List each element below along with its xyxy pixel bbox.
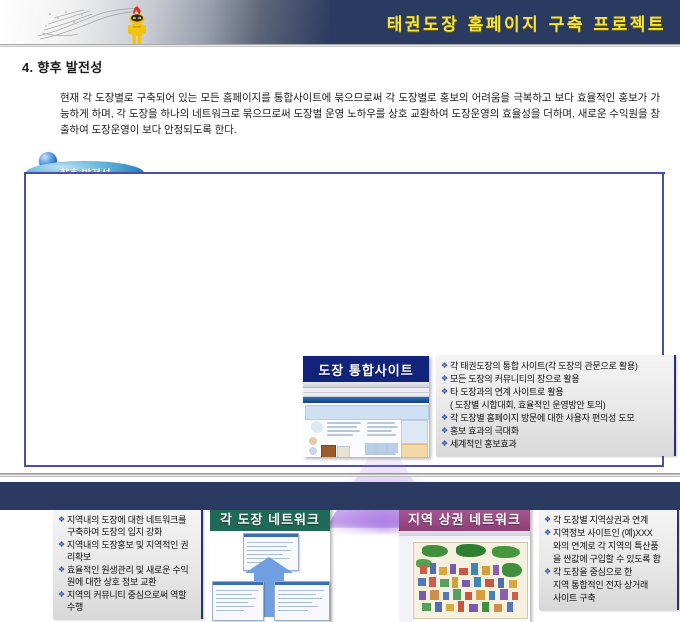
site-thumbnail (212, 581, 264, 621)
site-avatar (311, 421, 323, 433)
list-item-label: ( 도장별 시합대회, 효율적인 운영방안 토의) (450, 399, 668, 411)
diamond-bullet-icon: ❖ (441, 412, 450, 424)
list-item-label: 지역 통합적인 전자 상거래 (553, 579, 671, 591)
section-heading: 4. 향후 발전성 (22, 57, 103, 76)
list-item-label: 모든 도장의 커뮤니티의 장으로 활용 (450, 373, 668, 385)
diamond-bullet-icon: ❖ (441, 373, 450, 385)
site-thumb (337, 446, 350, 457)
page-footer (0, 482, 680, 510)
diamond-bullet-icon: ❖ (441, 425, 450, 437)
list-item: ❖각 도장별 홈페이지 방문에 대한 사용자 편의성 도모 (441, 412, 668, 424)
diamond-bullet-icon: ❖ (544, 566, 553, 578)
dojang-network-card[interactable]: 각 도장 네트워크 (210, 505, 330, 622)
list-item: ❖각 태권도장의 통합 사이트(각 도장의 관문으로 활용) (441, 360, 668, 372)
diamond-bullet-icon: ❖ (58, 539, 67, 551)
list-item-label: 타 도장과의 연계 사이트로 활용 (450, 386, 668, 398)
site-promo-box (401, 444, 428, 457)
browser-toolbar (399, 536, 530, 540)
site-thumb (321, 445, 336, 457)
site-text-line (367, 430, 392, 432)
diamond-bullet-icon: ❖ (441, 386, 450, 398)
site-text-line (327, 434, 353, 436)
site-text-line (327, 422, 361, 424)
map-sidebar (399, 540, 412, 622)
list-item: ❖효율적인 원생관리 및 새로운 수익원에 대한 상호 정보 교환 (58, 564, 195, 588)
site-text-line (327, 426, 357, 428)
site-thumb (309, 447, 317, 455)
list-item-label: 지역내의 도장에 대한 네트워크를 구축하여 도장의 입지 강화 (67, 514, 195, 538)
diamond-bullet-icon: ❖ (58, 564, 67, 576)
page-title: 태권도장 홈페이지 구축 프로젝트 (387, 10, 666, 35)
list-item-label: 지역내의 도장홍보 및 지역적인 권리확보 (67, 539, 195, 563)
list-item: ❖모든 도장의 커뮤니티의 장으로 활용 (441, 373, 668, 385)
page-header: 태권도장 홈페이지 구축 프로젝트 (0, 0, 680, 44)
list-item: ❖지역 통합적인 전자 상거래 (544, 579, 671, 591)
site-text-line (367, 422, 395, 424)
site-text-line (327, 430, 360, 432)
integrated-site-screenshot (303, 382, 429, 457)
site-content (303, 403, 429, 457)
site-thumbnail (274, 581, 330, 621)
diamond-bullet-icon: ❖ (441, 438, 450, 450)
diamond-bullet-icon: ❖ (544, 514, 553, 526)
site-sidebox (401, 420, 428, 444)
list-item-label: 각 도장별 홈페이지 방문에 대한 사용자 편의성 도모 (450, 412, 668, 424)
list-item: ❖각 도장을 중심으로 한 (544, 566, 671, 578)
header-divider (0, 44, 680, 47)
site-text-line (367, 426, 398, 428)
list-item-label: 각 도장을 중심으로 한 (553, 566, 671, 578)
list-item: ❖세계적인 홍보효과 (441, 438, 668, 450)
diamond-bullet-icon: ❖ (58, 589, 67, 601)
diamond-bullet-icon: ❖ (58, 514, 67, 526)
footer-divider (0, 473, 680, 477)
list-item-label: 사이트 구축 (553, 592, 671, 604)
site-text-line (367, 434, 396, 436)
list-item: ❖( 도장별 시합대회, 효율적인 운영방안 토의) (441, 399, 668, 411)
thumbnail-titlebar (213, 582, 263, 585)
list-item-label: 각 태권도장의 통합 사이트(각 도장의 관문으로 활용) (450, 360, 668, 372)
list-item: ❖을 싼값에 구입할 수 있도록 함 (544, 553, 671, 565)
illustrated-map (413, 542, 528, 619)
list-item: ❖지역정보 사이트인 (예)XXX (544, 527, 671, 539)
site-thumb (387, 443, 398, 453)
list-item: ❖홍보 효과의 극대화 (441, 425, 668, 437)
integrated-site-bullet-list: ❖각 태권도장의 통합 사이트(각 도장의 관문으로 활용) ❖모든 도장의 커… (436, 355, 676, 456)
market-network-bullet-list: ❖각 도장별 지역상권과 연계 ❖지역정보 사이트인 (예)XXX ❖와의 연계… (539, 509, 679, 610)
thumbnail-titlebar (275, 582, 329, 585)
site-thumb (365, 443, 376, 453)
list-item: ❖와의 연계로 각 지역의 특산품 (544, 540, 671, 552)
list-item: ❖사이트 구축 (544, 592, 671, 604)
thumbnail-titlebar (244, 534, 298, 537)
site-thumb (376, 443, 387, 453)
diamond-bullet-icon: ❖ (441, 360, 450, 372)
list-item: ❖타 도장과의 연계 사이트로 활용 (441, 386, 668, 398)
list-item-label: 지역정보 사이트인 (예)XXX (553, 527, 671, 539)
diamond-bullet-icon: ❖ (544, 527, 553, 539)
list-item-label: 지역의 커뮤니티 중심으로써 역할 수행 (67, 589, 195, 613)
list-item-label: 각 도장별 지역상권과 연계 (553, 514, 671, 526)
market-map-screenshot (399, 531, 530, 622)
list-item-label: 세계적인 홍보효과 (450, 438, 668, 450)
diagram-container: 도장 통합사이트 (24, 172, 664, 467)
site-text-line (365, 453, 396, 455)
list-item: ❖지역내의 도장에 대한 네트워크를 구축하여 도장의 입지 강화 (58, 514, 195, 538)
dojang-network-bullet-list: ❖지역내의 도장에 대한 네트워크를 구축하여 도장의 입지 강화 ❖지역내의 … (53, 509, 203, 619)
site-thumb (309, 437, 317, 445)
mascot-character-icon (122, 5, 152, 44)
list-item-label: 을 싼값에 구입할 수 있도록 함 (553, 553, 671, 565)
list-item: ❖각 도장별 지역상권과 연계 (544, 514, 671, 526)
taekwondo-mascot-logo (36, 2, 172, 44)
site-banner (305, 405, 429, 420)
list-item-label: 효율적인 원생관리 및 새로운 수익원에 대한 상호 정보 교환 (67, 564, 195, 588)
list-item-label: 홍보 효과의 극대화 (450, 425, 668, 437)
integrated-site-card[interactable]: 도장 통합사이트 (303, 356, 429, 457)
list-item-label: 와의 연계로 각 지역의 특산품 (553, 540, 671, 552)
list-item: ❖지역의 커뮤니티 중심으로써 역할 수행 (58, 589, 195, 613)
integrated-site-card-header: 도장 통합사이트 (303, 356, 429, 382)
dojang-network-diagram (210, 531, 330, 622)
list-item: ❖지역내의 도장홍보 및 지역적인 권리확보 (58, 539, 195, 563)
market-network-card[interactable]: 지역 상권 네트워크 (399, 505, 530, 622)
section-paragraph: 현재 각 도장별로 구축되어 있는 모든 홈페이지를 통합사이트에 묶으므로써 … (60, 90, 660, 138)
